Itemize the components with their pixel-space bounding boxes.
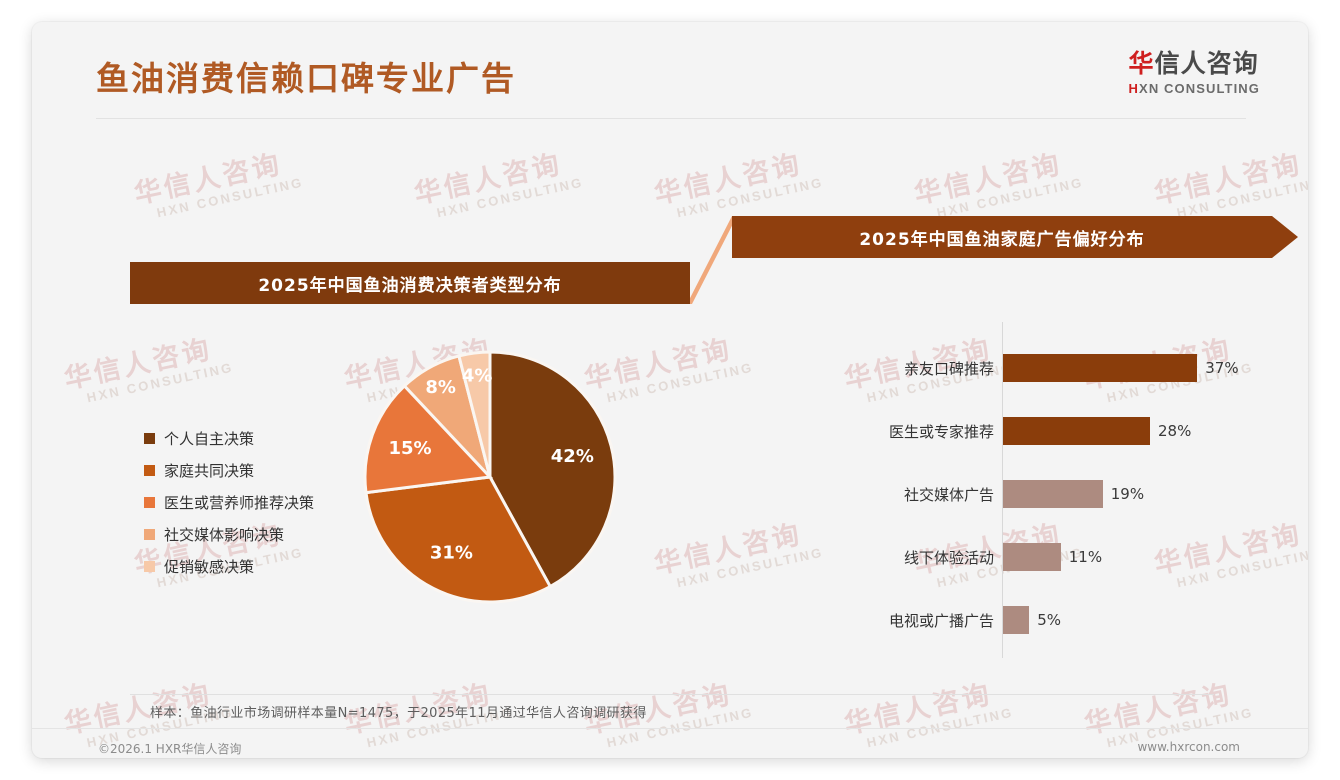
pie-chart-svg: 42%31%15%8%4% [362,342,632,612]
pie-slice-value: 31% [430,543,473,564]
bar-track: 11% [1003,543,1102,571]
brand-logo: 华信人咨询 HXN CONSULTING [1129,50,1260,96]
watermark-cn: 华信人咨询 [62,332,232,393]
watermark: 华信人咨询HXN CONSULTING [652,517,825,593]
footer-copyright: ©2026.1 HXR华信人咨询 [98,740,241,757]
bar-fill[interactable] [1003,354,1197,382]
legend-swatch-icon [144,433,155,444]
watermark-en: HXN CONSULTING [86,361,235,405]
bar-value-label: 28% [1158,422,1191,440]
watermark: 华信人咨询HXN CONSULTING [412,147,585,223]
bar-chart-row[interactable]: 亲友口碑推荐37% [862,354,1239,382]
legend-label: 促销敏感决策 [164,556,254,577]
legend-swatch-icon [144,529,155,540]
watermark-en: HXN CONSULTING [676,176,825,220]
pie-slice-value: 8% [425,377,456,398]
bar-chart-row[interactable]: 电视或广播广告5% [862,606,1061,634]
bar-category-label: 医生或专家推荐 [862,421,994,442]
bar-track: 5% [1003,606,1061,634]
legend-label: 个人自主决策 [164,428,254,449]
bar-track: 19% [1003,480,1144,508]
pie-slice-value: 42% [551,446,594,467]
legend-item[interactable]: 社交媒体影响决策 [144,521,314,547]
watermark-cn: 华信人咨询 [412,147,582,208]
legend-swatch-icon [144,561,155,572]
banner-right-arrow-tip [1272,216,1298,258]
bar-value-label: 19% [1111,485,1144,503]
pie-chart: 42%31%15%8%4% [362,342,632,612]
logo-en-text: HXN CONSULTING [1129,81,1260,96]
watermark-en: HXN CONSULTING [436,176,585,220]
logo-en-accent: H [1129,81,1140,96]
bar-value-label: 11% [1069,548,1102,566]
watermark-cn: 华信人咨询 [1152,147,1308,208]
legend-label: 医生或营养师推荐决策 [164,492,314,513]
legend-label: 社交媒体影响决策 [164,524,284,545]
bar-category-label: 亲友口碑推荐 [862,358,994,379]
legend-swatch-icon [144,497,155,508]
watermark-en: HXN CONSULTING [936,176,1085,220]
bar-category-label: 线下体验活动 [862,547,994,568]
footer-website: www.hxrcon.com [1137,740,1240,754]
source-note: 样本：鱼油行业市场调研样本量N=1475，于2025年11月通过华信人咨询调研获… [150,702,647,721]
banner-left: 2025年中国鱼油消费决策者类型分布 [130,262,690,304]
watermark-cn: 华信人咨询 [652,147,822,208]
bar-chart: 亲友口碑推荐37%医生或专家推荐28%社交媒体广告19%线下体验活动11%电视或… [862,322,1282,662]
note-divider [130,694,1214,695]
watermark: 华信人咨询HXN CONSULTING [842,677,1015,753]
legend-item[interactable]: 家庭共同决策 [144,457,314,483]
slide-header: 鱼油消费信赖口碑专业广告 华信人咨询 HXN CONSULTING [32,22,1308,118]
watermark: 华信人咨询HXN CONSULTING [62,332,235,408]
logo-en-rest: XN CONSULTING [1139,81,1260,96]
watermark-en: HXN CONSULTING [676,546,825,590]
bar-value-label: 37% [1205,359,1238,377]
page-title: 鱼油消费信赖口碑专业广告 [96,52,516,100]
bar-track: 37% [1003,354,1239,382]
watermark-cn: 华信人咨询 [652,517,822,578]
bar-track: 28% [1003,417,1191,445]
watermark: 华信人咨询HXN CONSULTING [652,147,825,223]
slide-card: 华信人咨询HXN CONSULTING华信人咨询HXN CONSULTING华信… [32,22,1308,758]
banner-right: 2025年中国鱼油家庭广告偏好分布 [732,216,1272,258]
bar-fill[interactable] [1003,606,1029,634]
banner-connector-shape [687,216,737,304]
logo-cn-text: 华信人咨询 [1129,50,1260,78]
watermark-cn: 华信人咨询 [842,677,1012,738]
watermark-cn: 华信人咨询 [132,147,302,208]
pie-slice-value: 4% [462,365,493,386]
bar-fill[interactable] [1003,417,1150,445]
bar-fill[interactable] [1003,480,1103,508]
legend-item[interactable]: 个人自主决策 [144,425,314,451]
legend-item[interactable]: 促销敏感决策 [144,553,314,579]
watermark-en: HXN CONSULTING [1176,176,1308,220]
pie-legend: 个人自主决策家庭共同决策医生或营养师推荐决策社交媒体影响决策促销敏感决策 [144,425,314,585]
bar-value-label: 5% [1037,611,1061,629]
bar-chart-row[interactable]: 医生或专家推荐28% [862,417,1191,445]
bar-category-label: 社交媒体广告 [862,484,994,505]
legend-item[interactable]: 医生或营养师推荐决策 [144,489,314,515]
bar-category-label: 电视或广播广告 [862,610,994,631]
header-divider [96,118,1246,119]
watermark: 华信人咨询HXN CONSULTING [132,147,305,223]
legend-label: 家庭共同决策 [164,460,254,481]
bar-fill[interactable] [1003,543,1061,571]
logo-cn-rest: 信人咨询 [1155,49,1259,78]
legend-swatch-icon [144,465,155,476]
watermark: 华信人咨询HXN CONSULTING [912,147,1085,223]
watermark-en: HXN CONSULTING [156,176,305,220]
bar-chart-row[interactable]: 社交媒体广告19% [862,480,1144,508]
footer-divider [32,728,1308,729]
logo-cn-accent: 华 [1129,49,1155,78]
pie-slice-value: 15% [388,438,431,459]
watermark-cn: 华信人咨询 [1082,677,1252,738]
watermark-cn: 华信人咨询 [912,147,1082,208]
watermark: 华信人咨询HXN CONSULTING [1152,147,1308,223]
bar-chart-row[interactable]: 线下体验活动11% [862,543,1102,571]
